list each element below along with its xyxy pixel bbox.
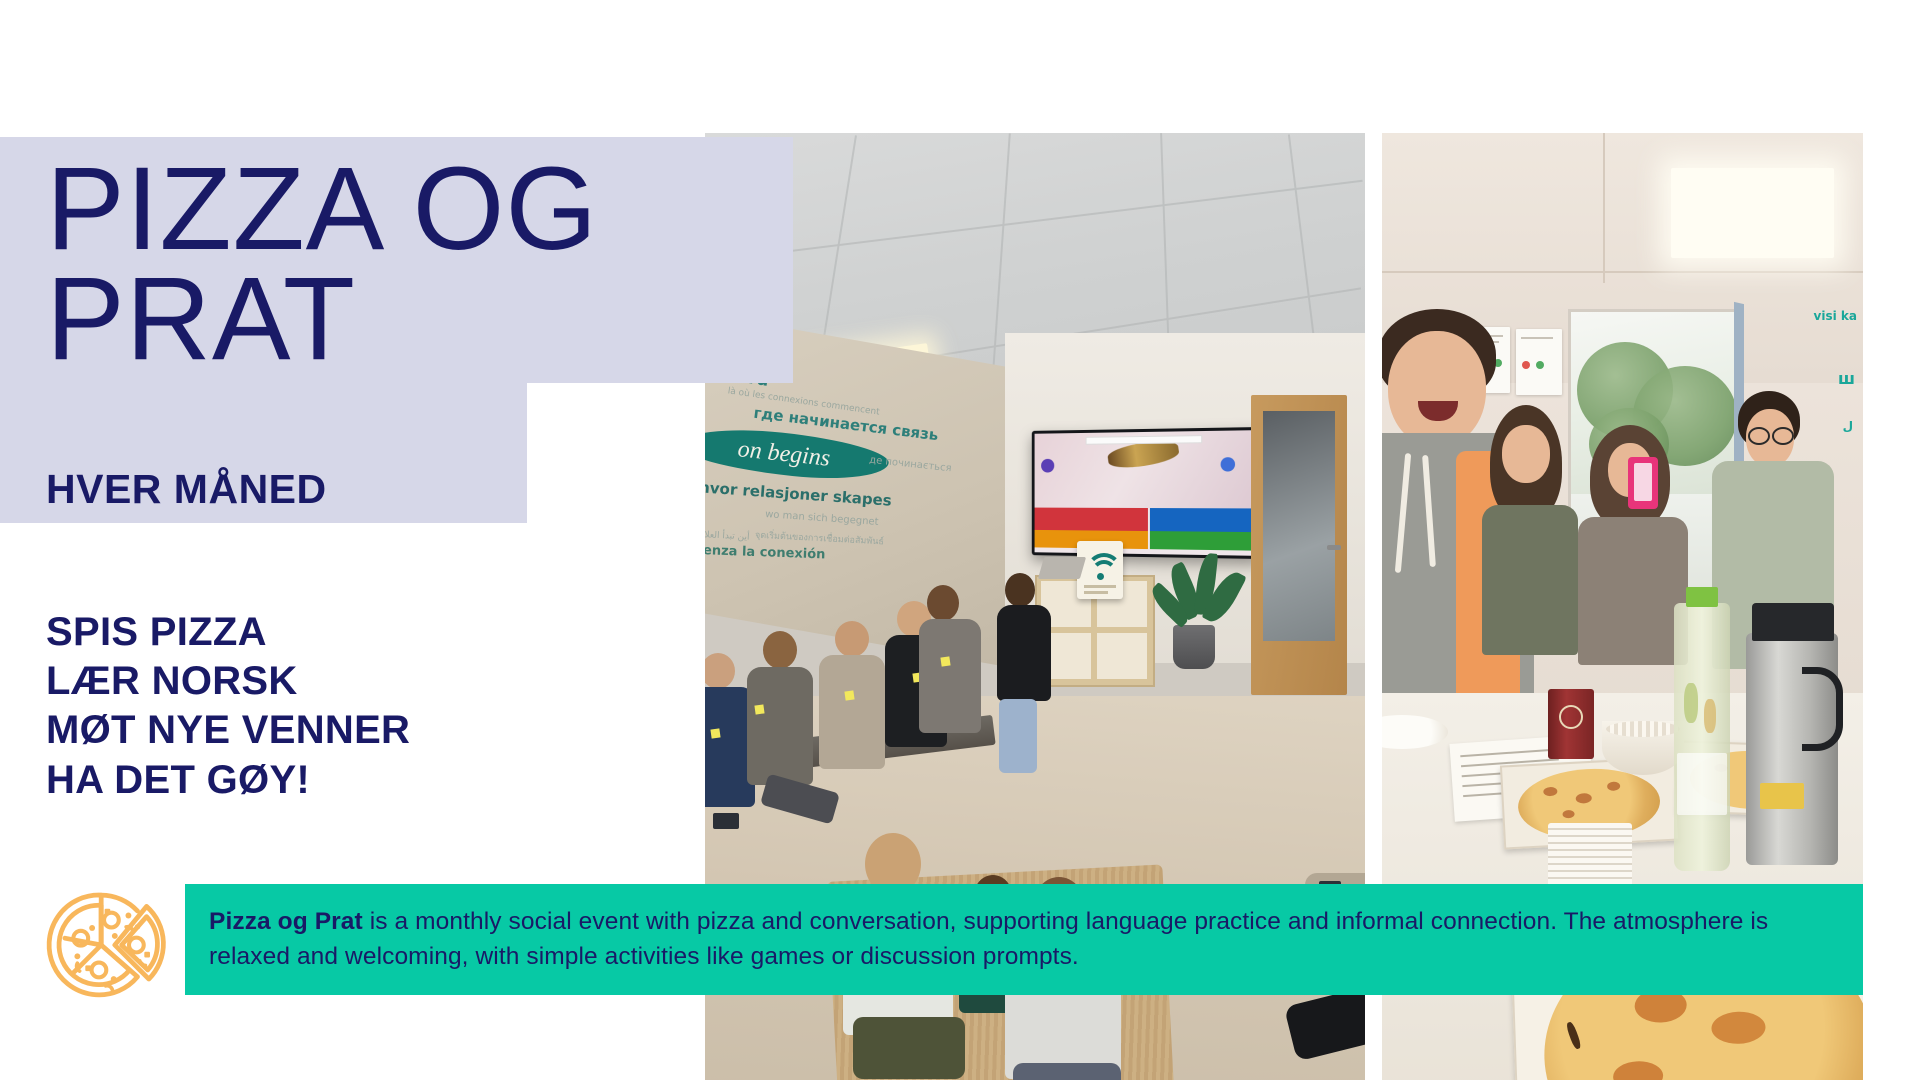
quiz-question-bar	[1086, 435, 1202, 445]
thermos-handle[interactable]	[1802, 667, 1843, 751]
coffee-cup-branded	[1548, 689, 1594, 759]
description-rest: is a monthly social event with pizza and…	[209, 908, 1768, 970]
juice-bottle	[1674, 603, 1730, 871]
door-handle[interactable]	[1327, 545, 1341, 550]
benefit-item-4: HA DET GØY!	[46, 756, 410, 805]
pizza-slices-icon	[38, 886, 178, 1004]
flat-screen-tv	[1032, 427, 1261, 559]
wall-poster-3	[1516, 329, 1562, 395]
cup-logo-icon	[1559, 705, 1583, 729]
quiz-answer-green	[1150, 531, 1258, 551]
steel-thermos	[1746, 633, 1838, 865]
page-title: PIZZA OG PRAT	[46, 155, 806, 374]
quiz-answers-row-1	[1035, 507, 1258, 532]
wall-text-right-2: ш	[1838, 369, 1855, 388]
headline-line-2: PRAT	[46, 265, 806, 375]
thermos-lid[interactable]	[1752, 603, 1834, 641]
quiz-answers-row-2	[1035, 530, 1258, 551]
quiz-answer-red	[1035, 507, 1148, 531]
benefit-list: SPIS PIZZA LÆR NORSK MØT NYE VENNER HA D…	[46, 608, 410, 805]
quiz-screen	[1035, 430, 1258, 556]
benefit-item-2: LÆR NORSK	[46, 657, 410, 706]
wall-text-right-1: visi ka	[1814, 309, 1857, 323]
white-bowl	[1602, 721, 1684, 775]
quiz-image-area	[1035, 430, 1258, 508]
quiz-badge-left	[1041, 459, 1054, 473]
quiz-badge-right	[1220, 457, 1234, 471]
laptop	[1038, 557, 1086, 579]
ceiling-panel-light	[1671, 168, 1835, 258]
thermos-label	[1760, 783, 1804, 809]
wooden-door[interactable]	[1251, 395, 1347, 695]
poster-canvas: par otru là où les connexions commencent…	[0, 0, 1920, 1080]
potted-plant	[1173, 625, 1215, 669]
mural-text-4: on begins	[736, 436, 831, 473]
wifi-dot-icon	[1097, 573, 1104, 580]
wall-text-right-3: ل	[1843, 419, 1853, 433]
description-text: Pizza og Prat is a monthly social event …	[185, 905, 1863, 975]
benefit-item-3: MØT NYE VENNER	[46, 706, 410, 755]
bottle-cap	[1686, 587, 1718, 607]
wifi-sign	[1077, 541, 1123, 599]
quiz-answer-blue	[1150, 508, 1258, 532]
description-lead: Pizza og Prat	[209, 908, 363, 935]
eyeglasses	[1748, 427, 1770, 445]
bottle-label	[1677, 753, 1727, 815]
mural-text-9: أين تبدأ العلاقات	[705, 529, 750, 542]
subtitle-frequency: HVER MÅNED	[46, 466, 327, 513]
benefit-item-1: SPIS PIZZA	[46, 608, 410, 657]
description-bar: Pizza og Prat is a monthly social event …	[185, 884, 1863, 995]
